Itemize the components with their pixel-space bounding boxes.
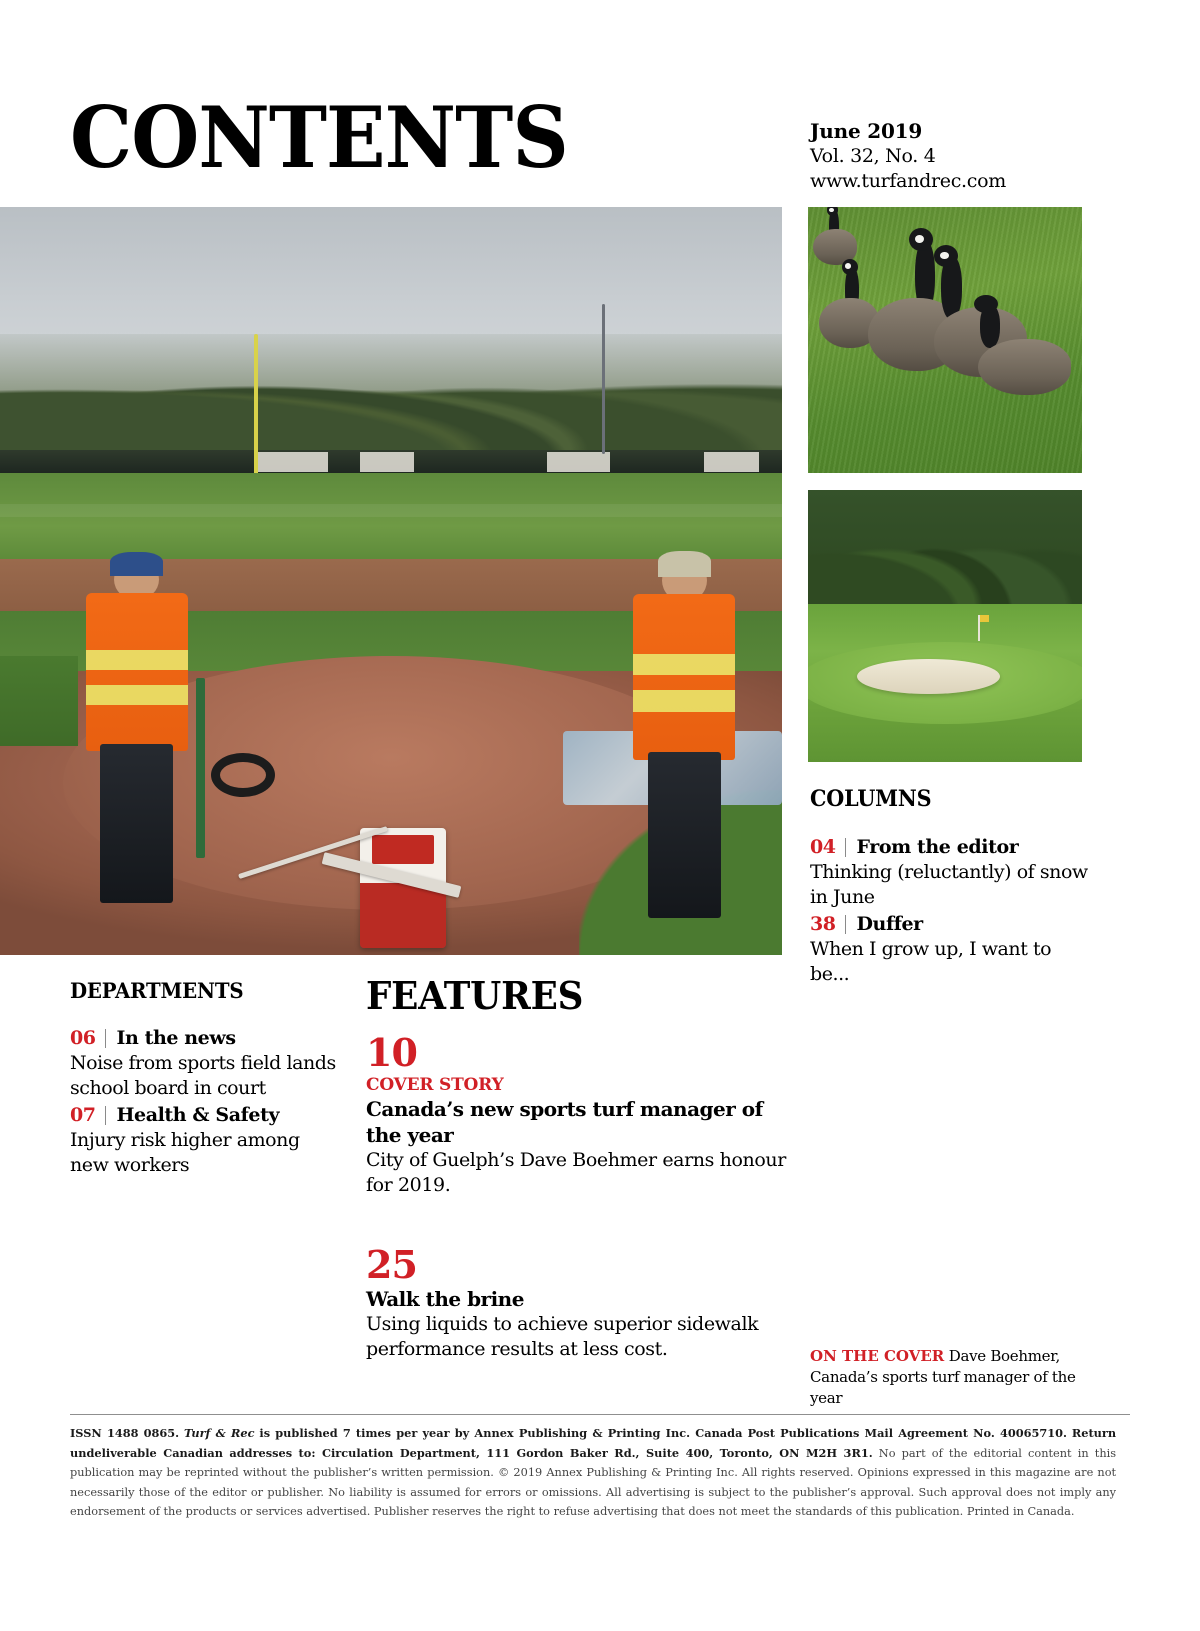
columns-list: 04 From the editor Thinking (reluctantly… xyxy=(810,834,1090,988)
goose-far-right xyxy=(978,313,1071,403)
divider xyxy=(105,1106,106,1125)
treeline xyxy=(0,334,782,461)
entry-description: Thinking (reluctantly) of snow in June xyxy=(810,860,1090,910)
feature-title: Walk the brine xyxy=(366,1286,786,1312)
features-heading: FEATURES xyxy=(366,976,583,1016)
list-item[interactable]: 07 Health & Safety Injury risk higher am… xyxy=(70,1102,340,1178)
feature-title: Canada’s new sports turf manager of the … xyxy=(366,1096,786,1148)
divider xyxy=(105,1029,106,1048)
entry-title: Duffer xyxy=(856,911,922,937)
tamper-handle xyxy=(196,678,205,858)
entry-description: When I grow up, I want to be... xyxy=(810,937,1090,987)
feature-description: City of Guelph’s Dave Boehmer earns hono… xyxy=(366,1148,786,1198)
issue-volume: Vol. 32, No. 4 xyxy=(810,144,1100,169)
entry-page-number: 06 xyxy=(70,1025,95,1051)
outfield-fence xyxy=(0,450,782,474)
feature-description: Using liquids to achieve superior sidewa… xyxy=(366,1312,786,1362)
contents-page: CONTENTS June 2019 Vol. 32, No. 4 www.tu… xyxy=(0,0,1200,1631)
entry-description: Noise from sports field lands school boa… xyxy=(70,1051,340,1101)
entry-page-number: 07 xyxy=(70,1102,95,1128)
columns-heading: COLUMNS xyxy=(810,786,931,812)
feature-kicker: COVER STORY xyxy=(366,1074,786,1096)
light-standard xyxy=(602,304,605,454)
flagstick-icon xyxy=(978,615,980,641)
left-grass-edge xyxy=(0,656,78,746)
entry-title: Health & Safety xyxy=(116,1102,279,1128)
issue-info: June 2019 Vol. 32, No. 4 www.turfandrec.… xyxy=(810,118,1100,194)
departments-heading: DEPARTMENTS xyxy=(70,978,243,1003)
on-the-cover-label: ON THE COVER xyxy=(810,1347,944,1365)
footer-line1: is published 7 times per year by Annex P… xyxy=(259,1426,1067,1440)
footer-issn: ISSN 1488 0865. xyxy=(70,1426,179,1440)
divider xyxy=(845,838,846,857)
entry-page-number: 38 xyxy=(810,911,835,937)
cap xyxy=(110,552,163,576)
list-item[interactable]: 25 Walk the brine Using liquids to achie… xyxy=(366,1244,786,1362)
photo-golf-green: 26 xyxy=(808,490,1082,762)
footer-divider xyxy=(70,1414,1130,1415)
foul-pole xyxy=(254,334,258,476)
page-title: CONTENTS xyxy=(70,96,568,180)
departments-list: 06 In the news Noise from sports field l… xyxy=(70,1025,340,1179)
tree-backdrop xyxy=(808,490,1082,615)
safety-vest xyxy=(633,594,735,759)
legal-footer: ISSN 1488 0865. Turf & Rec is published … xyxy=(70,1424,1116,1522)
photo-baseball-infield: 6 xyxy=(0,207,782,955)
entry-title: In the news xyxy=(116,1025,235,1051)
sand-bunker xyxy=(857,659,999,694)
list-item[interactable]: 06 In the news Noise from sports field l… xyxy=(70,1025,340,1101)
list-item[interactable]: 10 COVER STORY Canada’s new sports turf … xyxy=(366,1032,786,1198)
outfield-grass xyxy=(0,473,782,563)
safety-vest xyxy=(86,593,188,751)
on-the-cover-note: ON THE COVER Dave Boehmer, Canada’s spor… xyxy=(810,1346,1090,1409)
issue-website: www.turfandrec.com xyxy=(810,169,1100,194)
list-item[interactable]: 04 From the editor Thinking (reluctantly… xyxy=(810,834,1090,910)
photo-canada-geese: 16 xyxy=(808,207,1082,473)
worker-supervising xyxy=(633,559,735,918)
worker-tamping xyxy=(86,559,188,903)
tire xyxy=(211,753,275,797)
footer-magazine-name: Turf & Rec xyxy=(184,1426,255,1440)
features-list: 10 COVER STORY Canada’s new sports turf … xyxy=(366,1032,786,1396)
entry-title: From the editor xyxy=(856,834,1018,860)
cap xyxy=(658,551,711,576)
entry-page-number: 04 xyxy=(810,834,835,860)
issue-date: June 2019 xyxy=(810,118,1100,144)
entry-description: Injury risk higher among new workers xyxy=(70,1128,340,1178)
divider xyxy=(845,915,846,934)
list-item[interactable]: 38 Duffer When I grow up, I want to be..… xyxy=(810,911,1090,987)
feature-page-number: 25 xyxy=(366,1244,786,1286)
feature-page-number: 10 xyxy=(366,1032,786,1074)
